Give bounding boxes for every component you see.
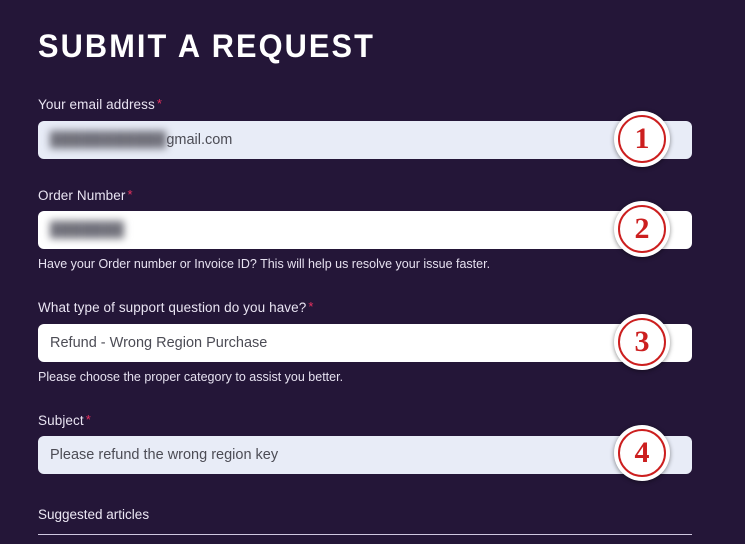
email-label-text: Your email address [38, 97, 155, 112]
support-question-type-value: Refund - Wrong Region Purchase [50, 335, 267, 351]
email-visible-value: gmail.com [166, 132, 232, 148]
annotation-marker-3: 3 [614, 314, 670, 370]
support-question-type-input[interactable]: Refund - Wrong Region Purchase [38, 324, 692, 362]
page-title: SUBMIT A REQUEST [38, 28, 375, 65]
support-question-type-helper-text: Please choose the proper category to ass… [38, 370, 343, 384]
submit-request-page: SUBMIT A REQUEST Your email address* ███… [0, 0, 745, 544]
annotation-number-4: 4 [635, 438, 650, 468]
subject-label-text: Subject [38, 413, 84, 428]
suggested-articles-divider [38, 534, 692, 535]
order-number-redacted-value: ███████ [50, 222, 124, 238]
order-number-field-label: Order Number* [38, 188, 133, 203]
support-question-type-field-label: What type of support question do you hav… [38, 300, 314, 315]
annotation-marker-4: 4 [614, 425, 670, 481]
suggested-articles-title: Suggested articles [38, 507, 149, 522]
support-question-type-label-text: What type of support question do you hav… [38, 300, 306, 315]
email-redacted-value: ███████████ [50, 132, 166, 148]
annotation-number-3: 3 [635, 327, 650, 357]
annotation-number-1: 1 [635, 124, 650, 154]
annotation-marker-1: 1 [614, 111, 670, 167]
subject-required-asterisk: * [86, 412, 91, 427]
email-required-asterisk: * [157, 96, 162, 111]
subject-input[interactable]: Please refund the wrong region key [38, 436, 692, 474]
email-field-label: Your email address* [38, 97, 162, 112]
order-number-label-text: Order Number [38, 188, 125, 203]
email-input[interactable]: ███████████gmail.com [38, 121, 692, 159]
annotation-number-2: 2 [635, 214, 650, 244]
order-number-helper-text: Have your Order number or Invoice ID? Th… [38, 257, 490, 271]
subject-value: Please refund the wrong region key [50, 447, 278, 463]
order-number-input[interactable]: ███████ [38, 211, 692, 249]
order-number-required-asterisk: * [127, 187, 132, 202]
annotation-marker-2: 2 [614, 201, 670, 257]
support-question-type-required-asterisk: * [308, 299, 313, 314]
subject-field-label: Subject* [38, 413, 91, 428]
